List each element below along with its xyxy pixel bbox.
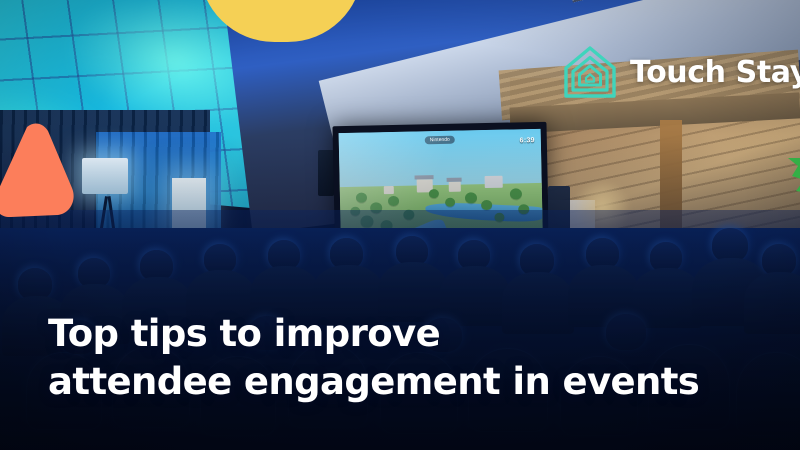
brand-name: Touch Stay	[630, 55, 800, 90]
orange-triangle-shape	[0, 122, 76, 218]
orange-triangle-icon	[0, 122, 76, 218]
headline-line-2: attendee engagement in events	[48, 358, 688, 406]
hero-banner: Nintendo 6:39	[0, 0, 800, 450]
brand-logo[interactable]: Touch Stay	[562, 44, 800, 100]
green-starburst-icon	[736, 158, 800, 304]
page-title: Top tips to improve attendee engagement …	[48, 310, 688, 406]
headline-line-1: Top tips to improve	[48, 310, 688, 358]
nested-house-svg	[562, 44, 618, 100]
green-starburst-shape	[736, 158, 800, 304]
nested-house-icon	[562, 44, 618, 100]
